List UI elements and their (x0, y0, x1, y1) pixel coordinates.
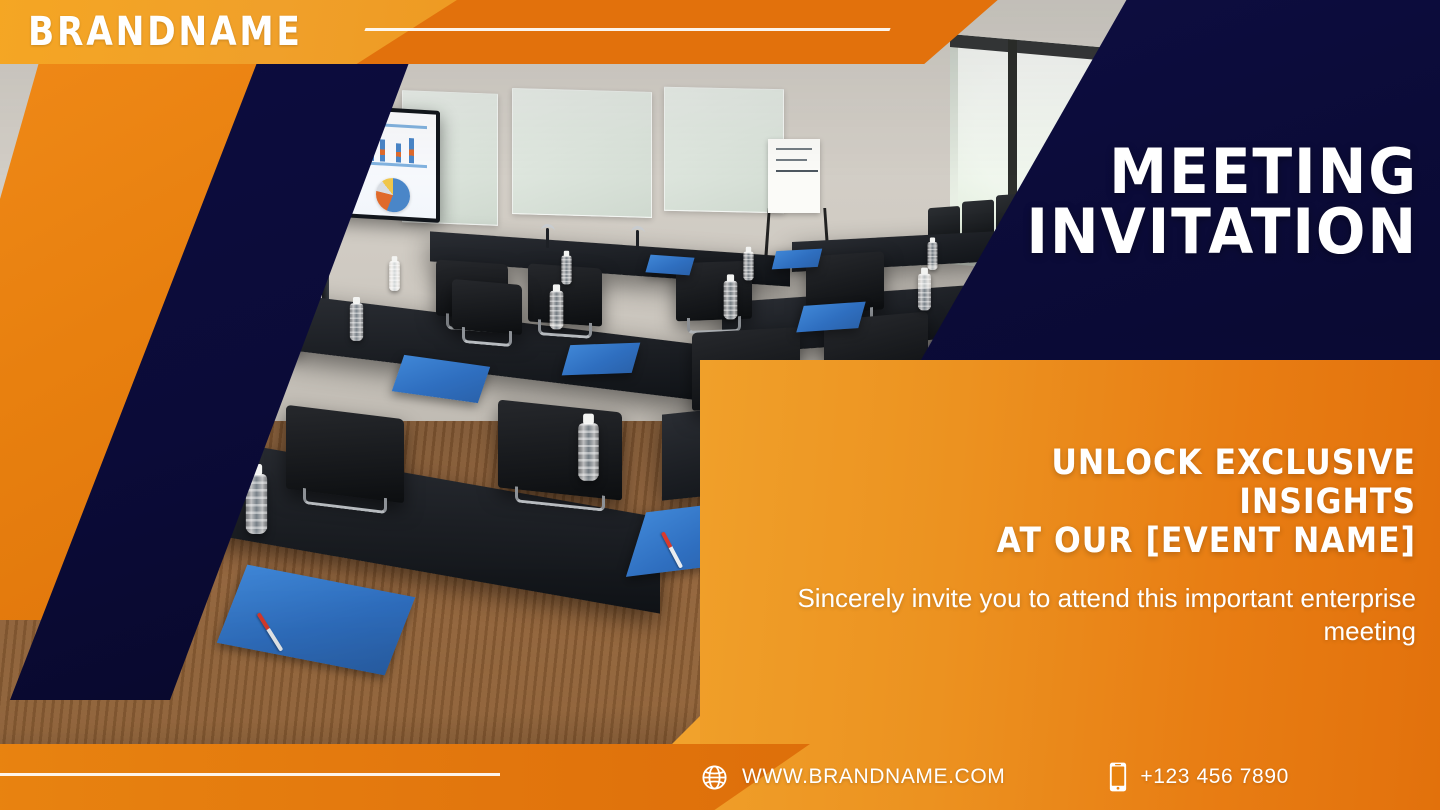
footer-divider-line (0, 773, 500, 776)
footer-orange-bar (0, 744, 810, 810)
headline-line-2: AT OUR [EVENT NAME] (894, 522, 1416, 561)
website-contact[interactable]: WWW.BRANDNAME.COM (700, 763, 1005, 792)
phone-contact[interactable]: +123 456 7890 (1109, 762, 1289, 792)
mobile-phone-icon (1109, 762, 1127, 792)
headline: UNLOCK EXCLUSIVE INSIGHTS AT OUR [EVENT … (836, 444, 1416, 562)
phone-label: +123 456 7890 (1140, 765, 1289, 789)
headline-line-1: UNLOCK EXCLUSIVE INSIGHTS (894, 444, 1416, 522)
meeting-invitation-poster: BRANDNAME MEETING INVITATION UNLOCK EXCL… (0, 0, 1440, 810)
subtitle-text: Sincerely invite you to attend this impo… (796, 582, 1416, 648)
header-divider-line (364, 28, 890, 31)
contact-footer: WWW.BRANDNAME.COM +123 456 7890 (700, 762, 1289, 792)
title-line-2: INVITATION (929, 202, 1418, 262)
website-label: WWW.BRANDNAME.COM (742, 765, 1005, 789)
title-line-1: MEETING (929, 142, 1418, 202)
globe-icon (700, 763, 729, 792)
page-title: MEETING INVITATION (898, 142, 1418, 261)
brand-logo-text: BRANDNAME (28, 9, 303, 55)
